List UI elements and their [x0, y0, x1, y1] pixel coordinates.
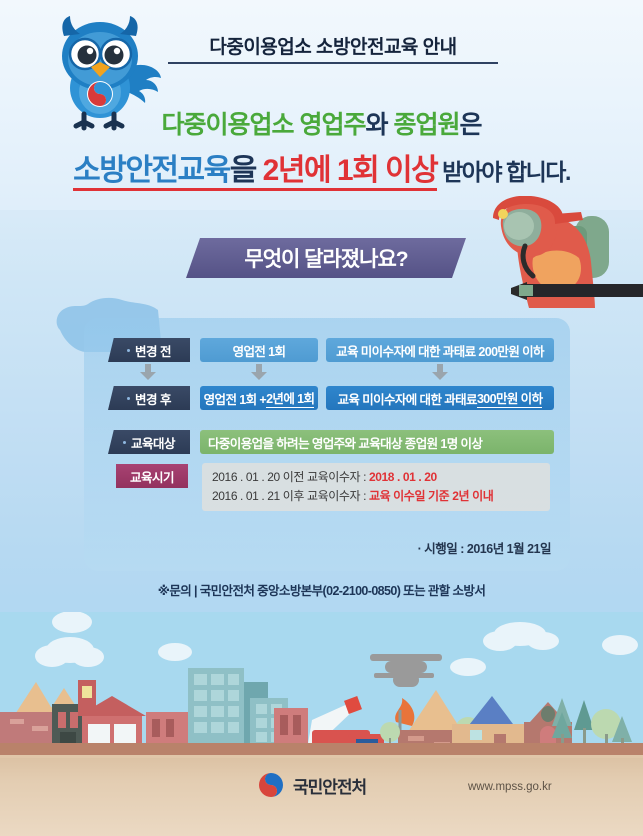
row-label-before-text: 변경 전 [135, 341, 171, 360]
schedule-line-2-plain: 2016 . 01 . 21 이후 교육이수자 : [212, 489, 369, 503]
row-label-target: 교육대상 [108, 430, 190, 454]
footer-org-name: 국민안전처 [293, 773, 366, 798]
row-label-after-text: 변경 후 [135, 389, 171, 408]
banner-label: 무엇이 달라졌나요? [244, 243, 407, 273]
schedule-line-1-red: 2018 . 01 . 20 [369, 470, 437, 484]
headline-must: 받아야 합니다. [437, 159, 570, 185]
schedule-value-box: 2016 . 01 . 20 이전 교육이수자 : 2018 . 01 . 20… [202, 463, 550, 511]
taegeuk-logo-icon [258, 772, 284, 798]
cycle-after-underline: 2년에 1회 [266, 388, 314, 408]
target-value-box: 다중이용업을 하려는 영업주와 교육대상 종업원 1명 이상 [200, 430, 554, 454]
row-label-before: 변경 전 [108, 338, 190, 362]
headline-employee: 종업원 [393, 111, 459, 139]
arrow-down-icon [140, 364, 156, 380]
schedule-line-1: 2016 . 01 . 20 이전 교육이수자 : 2018 . 01 . 20 [212, 468, 540, 487]
headline-suffix: 은 [459, 111, 481, 139]
bullet-dot-icon [123, 441, 126, 444]
poster-root: 다중이용업소 소방안전교육 안내 다중이용업소 영업주와 종업원은 소방안전교육… [0, 0, 643, 836]
firefighter-illustration-icon [455, 196, 643, 326]
penalty-before-text: 교육 미이수자에 대한 과태료 200만원 이하 [336, 341, 544, 360]
schedule-line-2: 2016 . 01 . 21 이후 교육이수자 : 교육 이수일 기준 2년 이… [212, 487, 540, 506]
cycle-after-box: 영업전 1회 + 2년에 1회 [200, 386, 318, 410]
whats-changed-banner: 무엇이 달라졌나요? [186, 238, 466, 278]
footer-website: www.mpss.go.kr [468, 781, 552, 793]
page-title: 다중이용업소 소방안전교육 안내 [168, 32, 498, 59]
penalty-after-plain: 교육 미이수자에 대한 과태료 [338, 389, 477, 408]
poster-title-block: 다중이용업소 소방안전교육 안내 [168, 32, 498, 64]
row-label-schedule: 교육시기 [116, 464, 188, 488]
bullet-dot-icon [127, 397, 130, 400]
headline-education: 소방안전교육 [73, 154, 230, 191]
row-label-schedule-text: 교육시기 [130, 467, 174, 486]
arrow-down-icon [432, 364, 448, 380]
schedule-line-1-plain: 2016 . 01 . 20 이전 교육이수자 : [212, 470, 369, 484]
contact-info: ※문의 | 국민안전처 중앙소방본부(02-2100-0850) 또는 관할 소… [0, 580, 643, 599]
arrow-down-icon [251, 364, 267, 380]
footer-logo-group: 국민안전처 [258, 772, 366, 798]
headline-frequency: 2년에 1회 이상 [263, 154, 438, 191]
cycle-before-text: 영업전 1회 [233, 341, 286, 360]
bullet-dot-icon [127, 349, 130, 352]
target-value-text: 다중이용업을 하려는 영업주와 교육대상 종업원 1명 이상 [208, 433, 482, 452]
penalty-before-box: 교육 미이수자에 대한 과태료 200만원 이하 [326, 338, 554, 362]
enforcement-date: · 시행일 : 2016년 1월 21일 [418, 538, 551, 557]
headline-line-2: 소방안전교육을 2년에 1회 이상 받아야 합니다. [0, 145, 643, 189]
penalty-after-underline: 300만원 이하 [477, 388, 543, 408]
headline-owner: 영업주 [299, 111, 365, 139]
headline-venue: 다중이용업소 [162, 111, 300, 139]
cycle-before-box: 영업전 1회 [200, 338, 318, 362]
headline-and: 와 [365, 111, 393, 139]
penalty-after-box: 교육 미이수자에 대한 과태료 300만원 이하 [326, 386, 554, 410]
cycle-after-plain: 영업전 1회 + [204, 389, 266, 408]
schedule-line-2-red: 교육 이수일 기준 2년 이내 [369, 489, 493, 503]
row-label-after: 변경 후 [108, 386, 190, 410]
headline-education-suffix: 을 [230, 154, 263, 191]
headline-line-1: 다중이용업소 영업주와 종업원은 [0, 105, 643, 141]
city-illustration [0, 612, 643, 772]
row-label-target-text: 교육대상 [131, 433, 175, 452]
title-underline [168, 62, 498, 64]
